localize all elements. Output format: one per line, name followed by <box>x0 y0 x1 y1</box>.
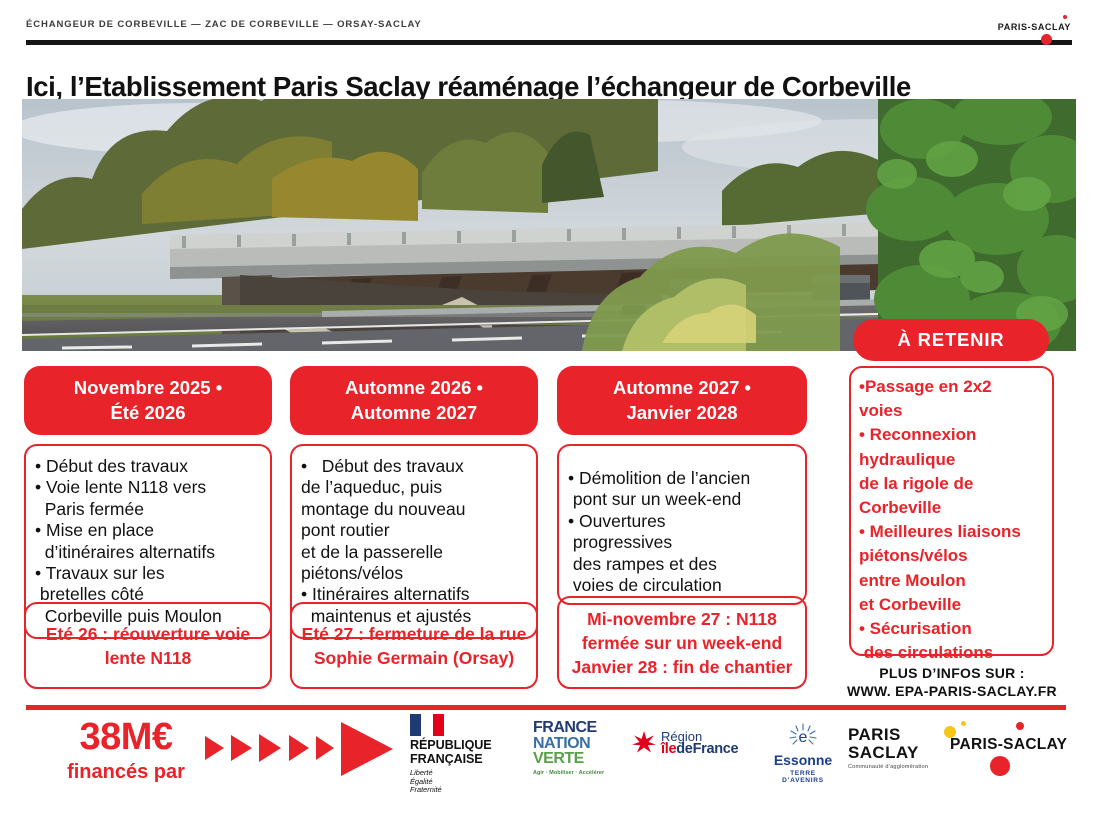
bullet-line: voies de circulation <box>568 575 797 596</box>
idf-line2-france: France <box>693 741 739 757</box>
rf-name-line1: RÉPUBLIQUE <box>410 739 518 753</box>
bullet-line: pont routier <box>301 520 528 541</box>
timeline-column-3-header: Automne 2027 • Janvier 2028 <box>557 366 807 435</box>
fnv-line3: VERTE <box>533 751 623 767</box>
bullet-line: • Démolition de l’ancien <box>568 468 797 489</box>
bullet-line: • Mise en place <box>35 520 262 541</box>
psca-line1: PARIS <box>848 726 938 744</box>
bullet-line: • Travaux sur les <box>35 563 262 584</box>
timeline-column-3: Automne 2027 • Janvier 2028 • Démolition… <box>557 366 807 605</box>
timeline-column-2-header-line2: Automne 2027 <box>296 400 532 425</box>
more-info-block: PLUS D’INFOS SUR : WWW. EPA-PARIS-SACLAY… <box>830 664 1074 700</box>
timeline-column-3-header-line2: Janvier 2028 <box>563 400 801 425</box>
retenir-line: •Passage en 2x2 <box>859 375 1046 399</box>
ps-footer-label: PARIS-SACLAY <box>950 736 1067 754</box>
bullet-line: • Début des travaux <box>301 456 528 477</box>
timeline-column-2-header: Automne 2026 • Automne 2027 <box>290 366 538 435</box>
retenir-line: • Meilleures liaisons <box>859 520 1046 544</box>
arrow-sequence-icon <box>205 722 395 778</box>
logo-republique-francaise: RÉPUBLIQUE FRANÇAISE Liberté Égalité Fra… <box>410 714 518 794</box>
idf-star-icon <box>632 731 656 755</box>
idf-line2-de: de <box>676 741 692 757</box>
psca-tagline: Communauté d’agglomération <box>848 764 938 770</box>
bullet-line: • Ouvertures <box>568 511 797 532</box>
rf-name-line2: FRANÇAISE <box>410 753 518 767</box>
logo-essonne: e Essonne TERRE D’AVENIRS <box>768 722 838 784</box>
fnv-tagline: Agir · Mobiliser · Accélérer <box>533 770 623 776</box>
retenir-line: de la rigole de <box>859 472 1046 496</box>
bullet-line: et de la passerelle <box>301 542 528 563</box>
logo-region-ile-de-france: Région îledeFrance <box>632 730 754 756</box>
timeline-column-1-header-line1: Novembre 2025 • <box>30 375 266 400</box>
bullet-line: progressives <box>568 532 797 553</box>
logo-paris-saclay-agglomeration: PARIS SACLAY Communauté d’agglomération <box>848 726 938 770</box>
timeline-column-1-header-line2: Été 2026 <box>30 400 266 425</box>
timeline-column-2-note: Eté 27 : fermeture de la rue Sophie Germ… <box>290 602 538 689</box>
header-divider <box>26 40 1072 45</box>
timeline-column-1-header: Novembre 2025 • Été 2026 <box>24 366 272 435</box>
brand-dot-large-icon <box>1041 34 1052 45</box>
fnv-line1: FRANCE <box>533 720 623 736</box>
bullet-line: des rampes et des <box>568 554 797 575</box>
bullet-line: • Début des travaux <box>35 456 262 477</box>
retenir-line: entre Moulon <box>859 569 1046 593</box>
fnv-line2: NATION <box>533 736 623 752</box>
timeline-column-1-note: Eté 26 : réouverture voie lente N118 <box>24 602 272 689</box>
retenir-line: et Corbeville <box>859 593 1046 617</box>
logo-france-nation-verte: FRANCE NATION VERTE Agir · Mobiliser · A… <box>533 720 623 776</box>
funding-amount: 38M€ <box>46 716 206 758</box>
retenir-line: voies <box>859 399 1046 423</box>
funding-amount-block: 38M€ financés par <box>46 716 206 784</box>
project-rendering-photo <box>22 99 1076 351</box>
bullet-line: de l’aqueduc, puis <box>301 477 528 498</box>
ps-dot-large-icon <box>990 756 1010 776</box>
retenir-line: hydraulique <box>859 448 1046 472</box>
bridge-rendering-illustration <box>22 99 1076 351</box>
bullet-line: d’itinéraires alternatifs <box>35 542 262 563</box>
idf-line2-ile: île <box>661 741 676 757</box>
a-retenir-body: •Passage en 2x2 voies • Reconnexion hydr… <box>849 366 1054 656</box>
more-info-label: PLUS D’INFOS SUR : <box>830 664 1074 682</box>
brand-dot-small-icon <box>1063 15 1067 19</box>
website-url[interactable]: WWW. EPA-PARIS-SACLAY.FR <box>830 682 1074 700</box>
essonne-sun-icon: e <box>768 722 838 748</box>
bullet-line: pont sur un week-end <box>568 489 797 510</box>
retenir-line: Corbeville <box>859 496 1046 520</box>
essonne-tagline: TERRE D’AVENIRS <box>768 770 838 784</box>
retenir-line: • Sécurisation <box>859 617 1046 641</box>
psca-line2: SACLAY <box>848 744 938 762</box>
ps-dot-small-icon <box>1016 722 1024 730</box>
bullet-line: piétons/vélos <box>301 563 528 584</box>
timeline-column-2-header-line1: Automne 2026 • <box>296 375 532 400</box>
footer-divider <box>26 705 1066 710</box>
logo-paris-saclay-footer: PARIS-SACLAY <box>950 722 1060 774</box>
funding-amount-caption: financés par <box>46 760 206 784</box>
rf-devise-line3: Fraternité <box>410 786 518 794</box>
bullet-line: montage du nouveau <box>301 499 528 520</box>
essonne-name: Essonne <box>768 753 838 768</box>
timeline-column-2: Automne 2026 • Automne 2027 • Début des … <box>290 366 538 639</box>
svg-text:e: e <box>799 729 808 746</box>
bullet-line: Paris fermée <box>35 499 262 520</box>
retenir-line: • Reconnexion <box>859 423 1046 447</box>
breadcrumb-kicker: ÉCHANGEUR DE CORBEVILLE — ZAC DE CORBEVI… <box>26 19 422 30</box>
timeline-column-3-header-line1: Automne 2027 • <box>563 375 801 400</box>
brand-header-label: PARIS-SACLAY <box>998 22 1071 32</box>
timeline-column-3-body: • Démolition de l’ancien pont sur un wee… <box>557 444 807 605</box>
timeline-column-3-note: Mi-novembre 27 : N118 fermée sur un week… <box>557 596 807 689</box>
a-retenir-header: À RETENIR <box>853 319 1049 361</box>
timeline-column-1: Novembre 2025 • Été 2026 • Début des tra… <box>24 366 272 639</box>
retenir-line: des circulations <box>859 641 1046 665</box>
bullet-line: • Voie lente N118 vers <box>35 477 262 498</box>
french-flag-icon <box>410 714 444 736</box>
retenir-line: piétons/vélos <box>859 544 1046 568</box>
